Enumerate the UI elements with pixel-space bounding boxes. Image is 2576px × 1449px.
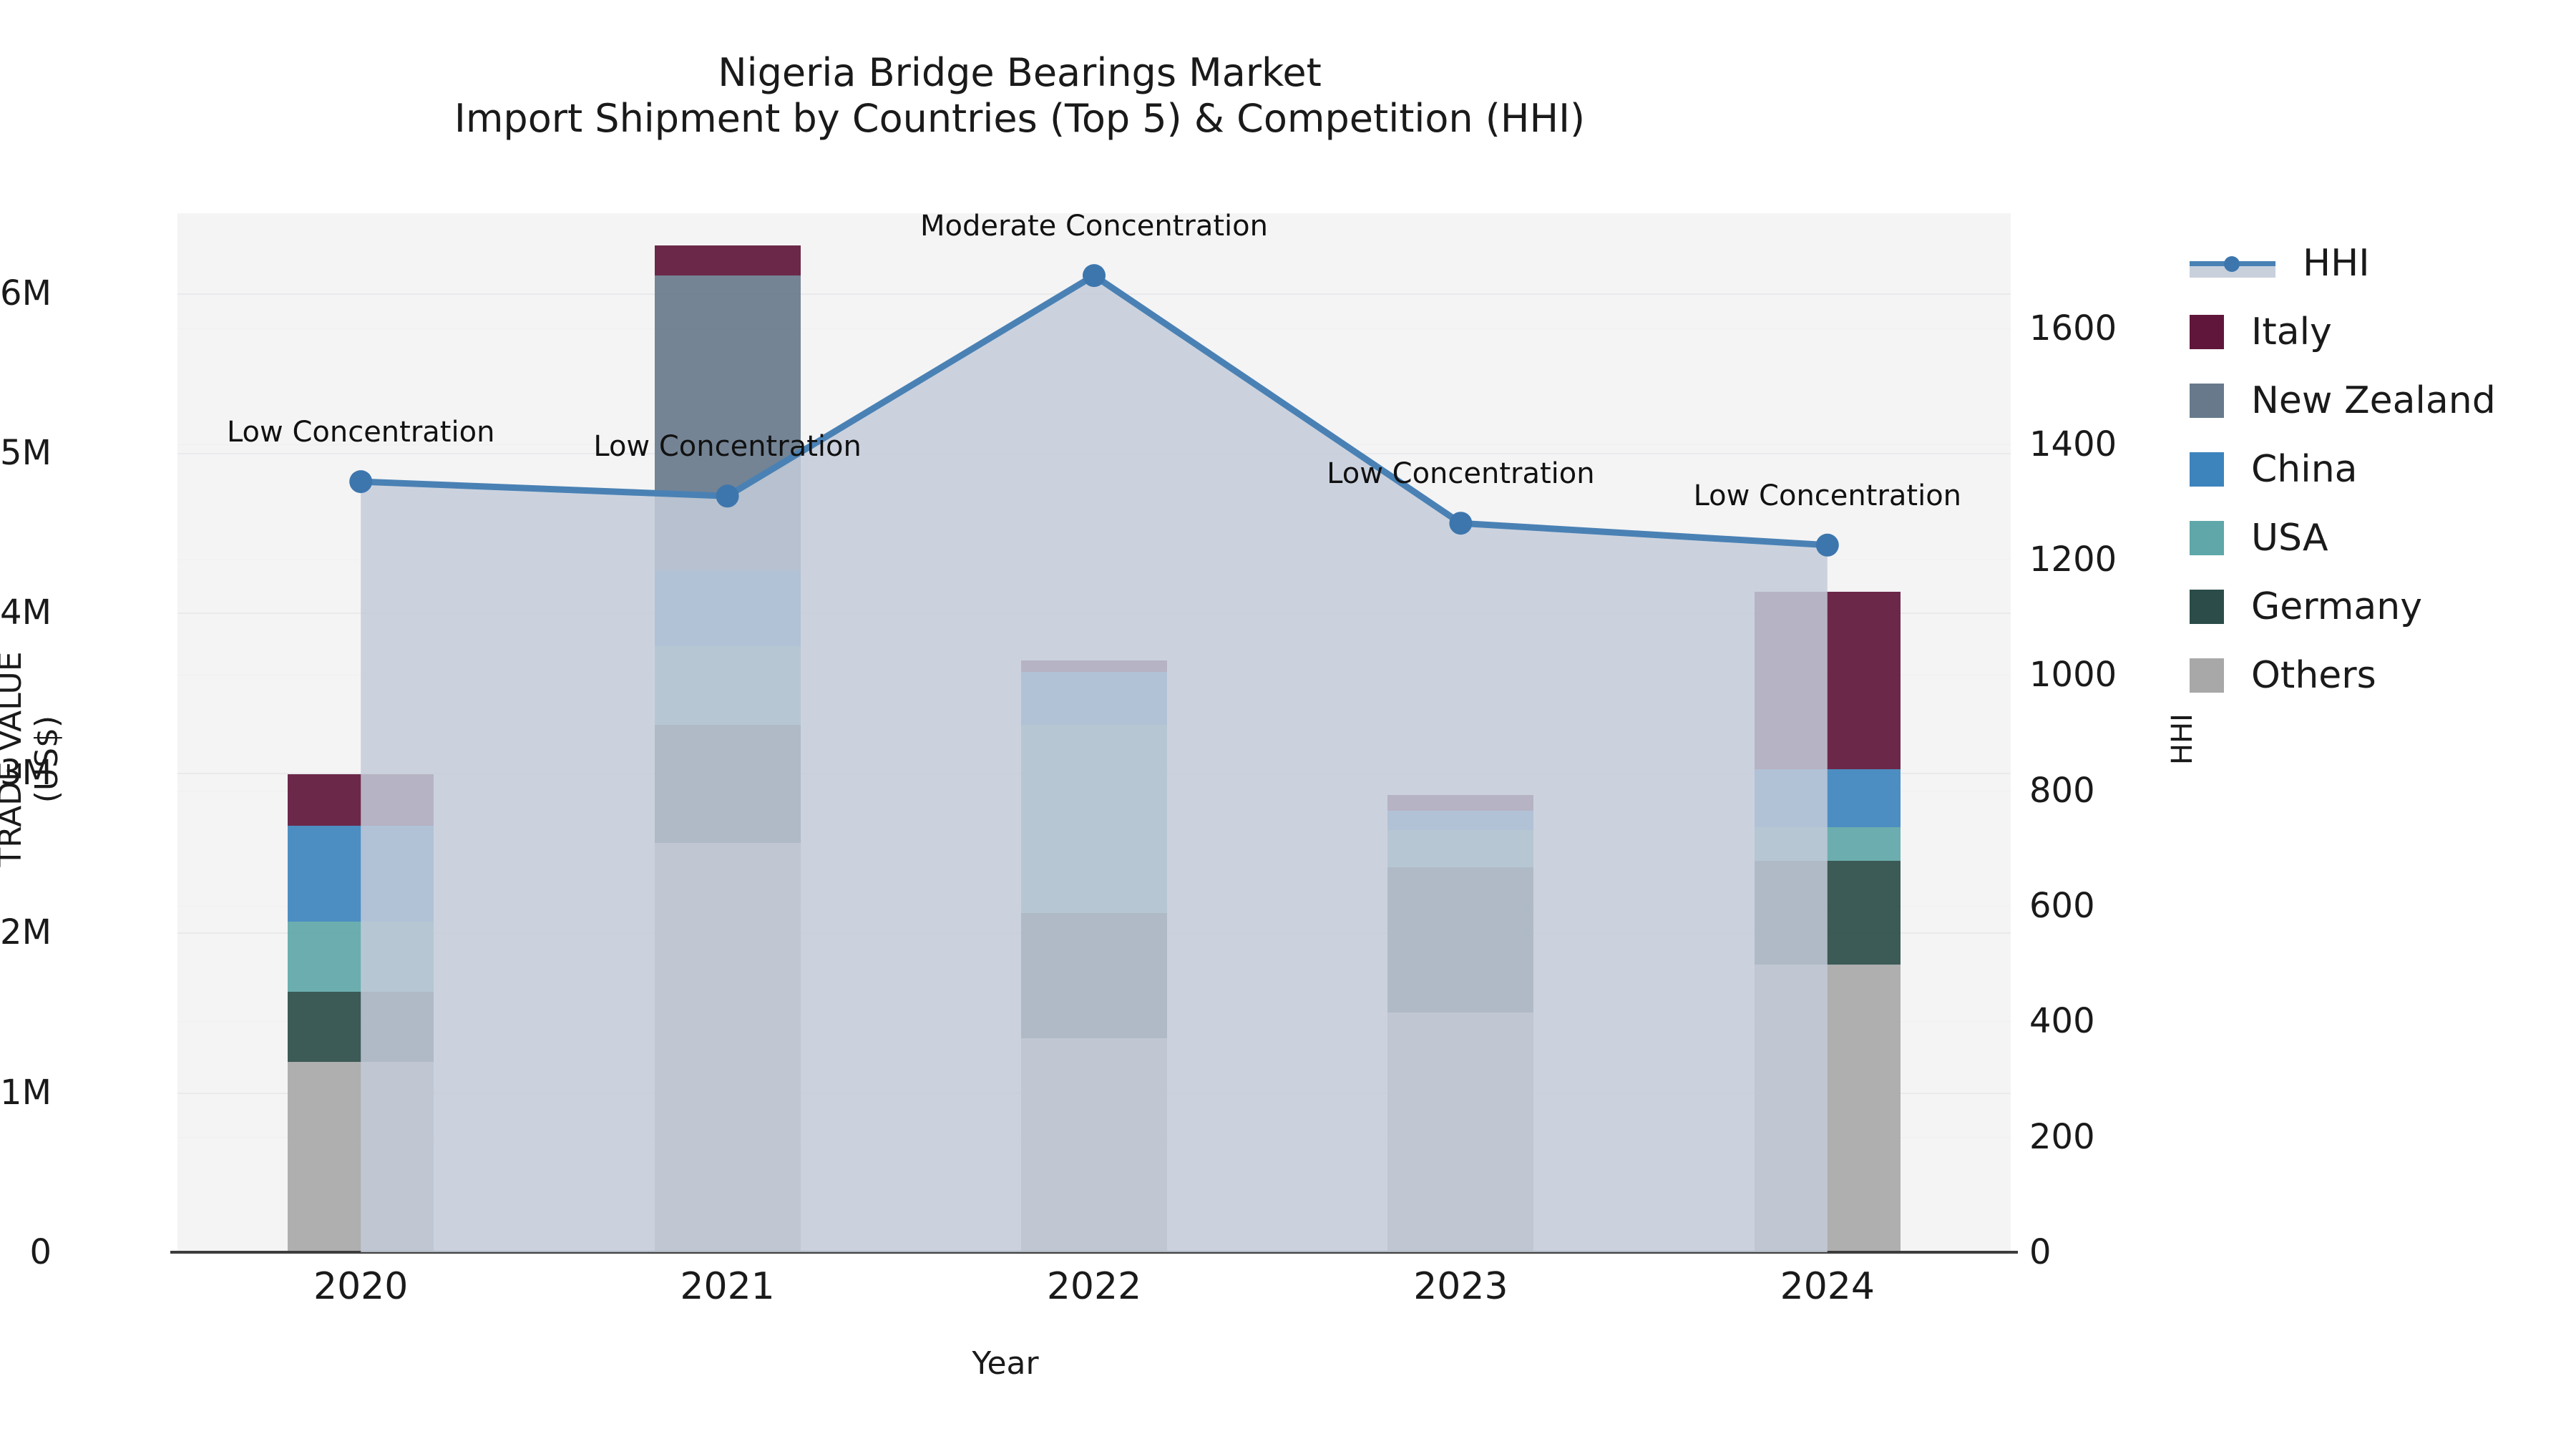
legend-item-label: New Zealand <box>2251 379 2496 422</box>
legend-item-label: HHI <box>2303 242 2370 285</box>
x-axis-tick: 2021 <box>577 1265 878 1308</box>
y-axis-right-tick: 600 <box>2029 886 2201 926</box>
y-axis-left-tick: 5M <box>0 433 52 473</box>
x-axis-label: Year <box>0 1345 2011 1382</box>
x-axis-tick: 2022 <box>944 1265 1244 1308</box>
bar-segment-china[interactable] <box>288 826 434 922</box>
bar-segment-usa[interactable] <box>1387 830 1533 867</box>
bar-segment-germany[interactable] <box>1387 867 1533 1013</box>
gridline-left <box>177 293 2011 295</box>
legend-item-hhi[interactable]: HHI <box>2190 229 2496 298</box>
bar-segment-italy[interactable] <box>1387 795 1533 811</box>
y-axis-left-label: TRADE VALUE (US$) <box>0 609 65 909</box>
gridline-left <box>177 613 2011 614</box>
legend-item-label: USA <box>2251 517 2328 560</box>
plot-area <box>177 213 2011 1252</box>
bar-segment-china[interactable] <box>655 571 801 646</box>
y-axis-right-tick: 1600 <box>2029 308 2201 348</box>
bar-segment-china[interactable] <box>1755 769 1901 826</box>
legend-item-others[interactable]: Others <box>2190 641 2496 710</box>
y-axis-left-tick: 6M <box>0 273 52 313</box>
bar-segment-italy[interactable] <box>655 245 801 275</box>
bar-segment-germany[interactable] <box>1021 913 1167 1038</box>
bar-segment-germany[interactable] <box>288 992 434 1062</box>
x-axis-tick: 2024 <box>1677 1265 1978 1308</box>
y-axis-right-tick: 0 <box>2029 1232 2201 1272</box>
y-axis-right-tick: 400 <box>2029 1001 2201 1041</box>
x-axis-tick: 2020 <box>210 1265 511 1308</box>
bar-segment-others[interactable] <box>1755 965 1901 1252</box>
chart-title-line2: Import Shipment by Countries (Top 5) & C… <box>0 96 2039 142</box>
bar-segment-italy[interactable] <box>1021 660 1167 672</box>
chart-title: Nigeria Bridge Bearings Market Import Sh… <box>0 50 2039 141</box>
legend-swatch <box>2190 521 2224 555</box>
hhi-annotation: Low Concentration <box>1694 479 1961 512</box>
legend-item-china[interactable]: China <box>2190 435 2496 504</box>
legend-line-marker <box>2190 246 2275 280</box>
y-axis-left-tick: 1M <box>0 1073 52 1113</box>
hhi-annotation: Moderate Concentration <box>920 210 1268 243</box>
bar-segment-usa[interactable] <box>1021 725 1167 914</box>
bar-segment-china[interactable] <box>1387 811 1533 830</box>
gridline-left <box>177 453 2011 454</box>
legend-item-label: Germany <box>2251 585 2422 628</box>
y-axis-right-tick: 1200 <box>2029 540 2201 580</box>
legend-item-usa[interactable]: USA <box>2190 504 2496 572</box>
bar-segment-others[interactable] <box>1387 1013 1533 1252</box>
legend-item-label: Others <box>2251 654 2376 697</box>
bar-segment-others[interactable] <box>288 1062 434 1252</box>
legend-swatch <box>2190 315 2224 349</box>
gridline-right <box>177 560 2011 560</box>
x-axis-line <box>170 1251 2018 1254</box>
bar-segment-others[interactable] <box>655 843 801 1252</box>
legend-item-germany[interactable]: Germany <box>2190 572 2496 641</box>
legend-swatch <box>2190 658 2224 693</box>
bar-segment-usa[interactable] <box>655 646 801 724</box>
legend-swatch <box>2190 452 2224 487</box>
chart-root: Nigeria Bridge Bearings Market Import Sh… <box>0 0 2576 1449</box>
bar-segment-italy[interactable] <box>288 774 434 825</box>
y-axis-right-tick: 1400 <box>2029 424 2201 464</box>
bar-segment-germany[interactable] <box>1755 861 1901 965</box>
bar-segment-others[interactable] <box>1021 1038 1167 1252</box>
bar-segment-china[interactable] <box>1021 672 1167 725</box>
legend-swatch <box>2190 384 2224 418</box>
legend-item-label: China <box>2251 448 2358 491</box>
bar-segment-usa[interactable] <box>1755 827 1901 861</box>
legend-item-italy[interactable]: Italy <box>2190 298 2496 366</box>
bar-segment-usa[interactable] <box>288 922 434 992</box>
legend-item-label: Italy <box>2251 311 2332 353</box>
hhi-annotation: Low Concentration <box>1327 457 1594 490</box>
legend-item-new-zealand[interactable]: New Zealand <box>2190 366 2496 435</box>
legend-swatch <box>2190 590 2224 624</box>
chart-title-line1: Nigeria Bridge Bearings Market <box>0 50 2039 96</box>
y-axis-left-tick: 0 <box>0 1232 52 1272</box>
bar-segment-germany[interactable] <box>655 725 801 843</box>
hhi-annotation: Low Concentration <box>227 416 494 449</box>
y-axis-left-tick: 2M <box>0 912 52 952</box>
bar-segment-italy[interactable] <box>1755 592 1901 769</box>
x-axis-tick: 2023 <box>1310 1265 1611 1308</box>
y-axis-right-tick: 200 <box>2029 1117 2201 1157</box>
bar-segment-new-zealand[interactable] <box>655 275 801 571</box>
hhi-annotation: Low Concentration <box>593 430 861 463</box>
legend: HHIItalyNew ZealandChinaUSAGermanyOthers <box>2190 229 2496 710</box>
gridline-right <box>177 328 2011 329</box>
